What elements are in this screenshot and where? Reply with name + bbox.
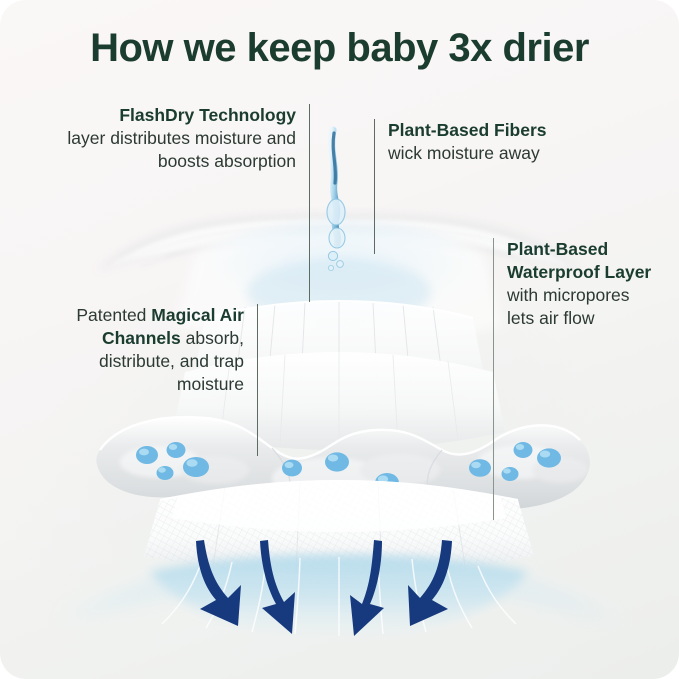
moisture-blob (183, 457, 209, 477)
callout-plant-based-waterproof-layer: Plant-Based Waterproof Layer with microp… (493, 238, 659, 520)
callout-fibers-body: wick moisture away (388, 143, 540, 163)
water-droplet-stream (327, 130, 345, 271)
moisture-blob (282, 460, 302, 477)
callout-flashdry-technology: FlashDry Technology layer distributes mo… (24, 104, 310, 302)
moisture-blob (302, 485, 324, 503)
airflow-arrow (350, 540, 384, 636)
callout-waterproof-body: with micropores lets air flow (507, 285, 630, 328)
page-title: How we keep baby 3x drier (0, 26, 679, 71)
moisture-blob (469, 459, 491, 477)
airflow-arrow (260, 540, 295, 634)
moisture-blob (375, 473, 399, 493)
airflow-arrow (408, 540, 452, 626)
airflow-arrow-group (196, 540, 452, 636)
waterproof-micropore-layer (144, 480, 534, 575)
moisture-blob (325, 452, 349, 471)
callout-magical-air-channels: Patented Magical Air Channels absorb, di… (34, 304, 258, 456)
callout-flashdry-heading: FlashDry Technology (119, 105, 296, 125)
callout-flashdry-body: layer distributes moisture and boosts ab… (67, 128, 296, 171)
moisture-blob (346, 489, 364, 504)
callout-channels-prefix: Patented (76, 305, 151, 325)
airflow-layer (60, 556, 618, 641)
infographic-card: How we keep baby 3x drier FlashDry Techn… (0, 0, 679, 679)
airflow-arrow (196, 540, 241, 626)
moisture-blob (157, 466, 174, 480)
callout-waterproof-heading: Plant-Based Waterproof Layer (507, 239, 651, 282)
callout-plant-based-fibers: Plant-Based Fibers wick moisture away (374, 119, 618, 254)
callout-fibers-heading: Plant-Based Fibers (388, 120, 547, 140)
